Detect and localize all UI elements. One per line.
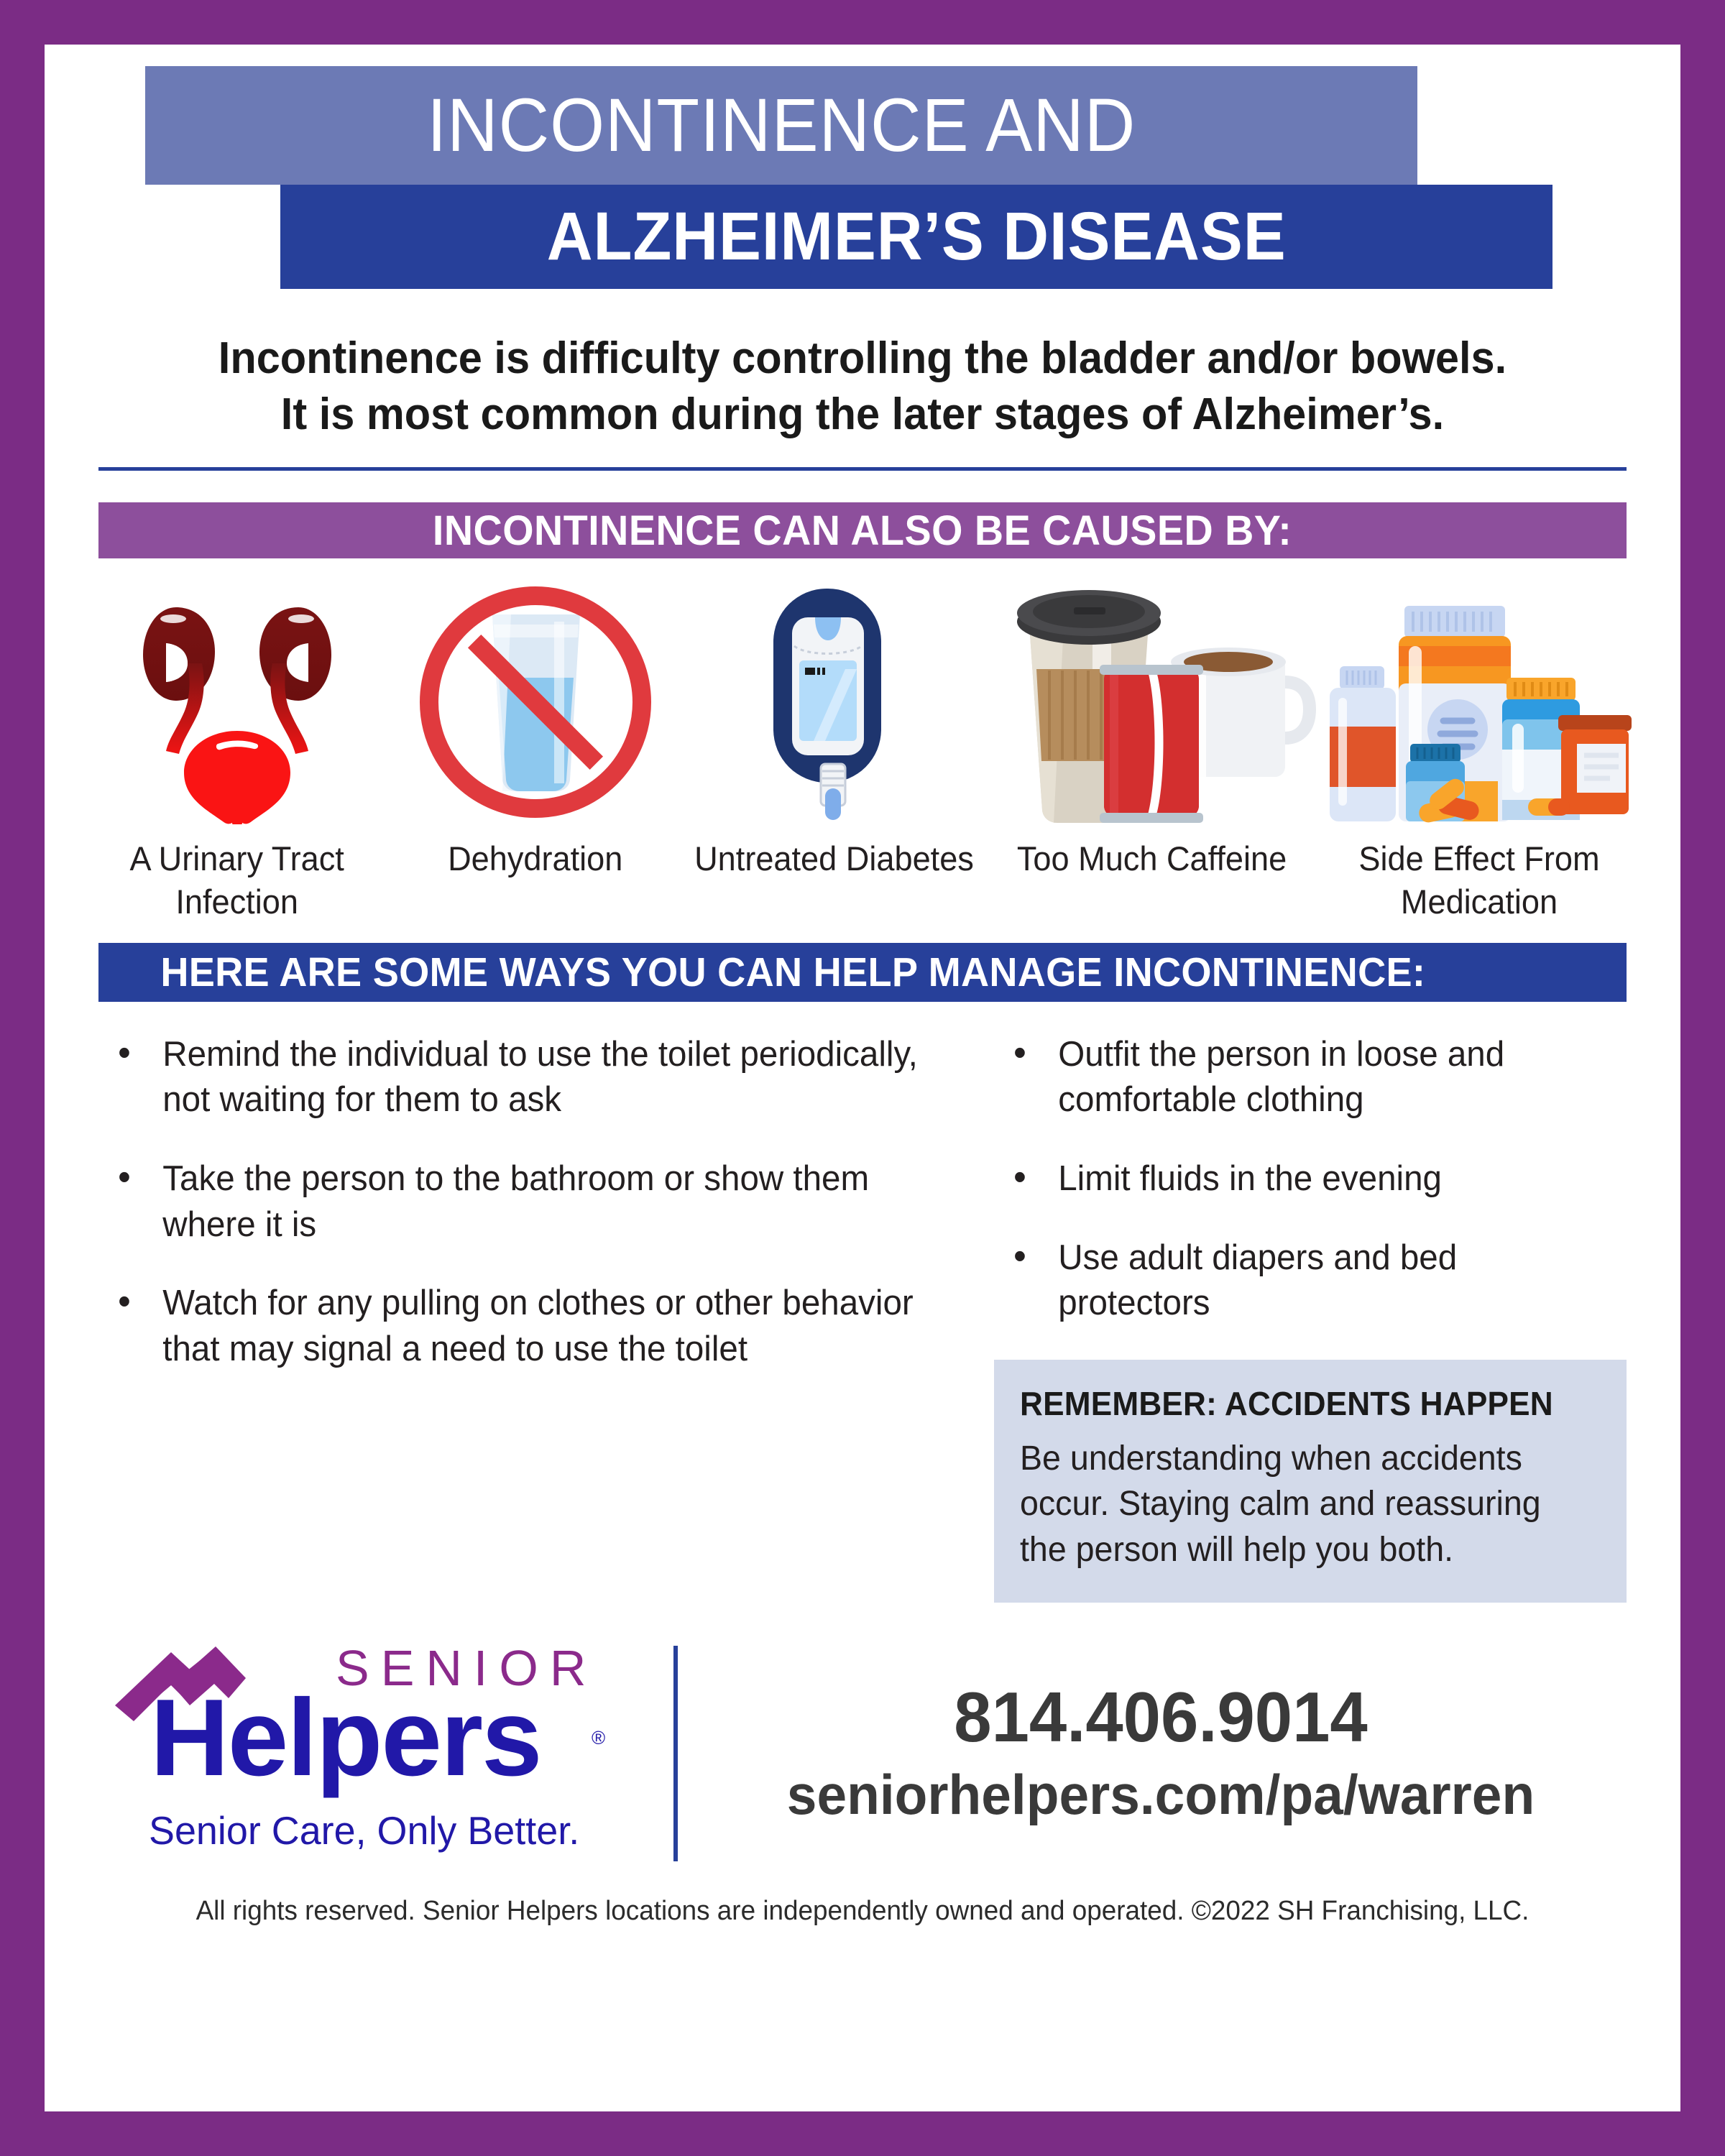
- list-item: Remind the individual to use the toilet …: [98, 1032, 947, 1123]
- list-item: Outfit the person in loose and comfortab…: [994, 1032, 1608, 1123]
- horizontal-rule: [98, 467, 1627, 471]
- cause-label: Dehydration: [448, 837, 622, 880]
- glucose-meter-icon: [685, 580, 983, 824]
- medication-bottles-icon: [1321, 580, 1637, 824]
- tips-column-right: Outfit the person in loose and comfortab…: [994, 1032, 1627, 1603]
- contact-block: 814.406.9014 seniorhelpers.com/pa/warren: [709, 1678, 1627, 1828]
- coffee-cup-soda-can-mug-icon: [983, 580, 1321, 824]
- title-line-1: INCONTINENCE AND: [427, 88, 1136, 163]
- causes-row: A Urinary Tract Infection: [88, 580, 1637, 923]
- poster-page: INCONTINENCE AND ALZHEIMER’S DISEASE Inc…: [45, 45, 1680, 2111]
- subtitle-line-2: It is most common during the later stage…: [153, 387, 1572, 443]
- tips-column-left: Remind the individual to use the toilet …: [98, 1032, 972, 1603]
- cause-label: Side Effect From Medication: [1328, 837, 1631, 923]
- phone-number[interactable]: 814.406.9014: [727, 1678, 1594, 1757]
- logo-helpers-text: Helpers: [150, 1675, 541, 1801]
- tips-list-right: Outfit the person in loose and comfortab…: [994, 1032, 1627, 1327]
- title-line-2: ALZHEIMER’S DISEASE: [547, 203, 1287, 271]
- list-item: Limit fluids in the evening: [994, 1156, 1608, 1202]
- registered-trademark-icon: ®: [592, 1727, 605, 1749]
- list-item: Watch for any pulling on clothes or othe…: [98, 1281, 947, 1372]
- remember-body: Be understanding when accidents occur. S…: [1020, 1436, 1583, 1572]
- website-url[interactable]: seniorhelpers.com/pa/warren: [727, 1761, 1594, 1829]
- cause-item: Side Effect From Medication: [1321, 580, 1637, 923]
- list-item: Take the person to the bathroom or show …: [98, 1156, 947, 1248]
- cause-item: Untreated Diabetes: [685, 580, 983, 880]
- causes-banner-label: INCONTINENCE CAN ALSO BE CAUSED BY:: [433, 507, 1292, 555]
- cause-label: A Urinary Tract Infection: [93, 837, 380, 923]
- tips-section: Remind the individual to use the toilet …: [98, 1032, 1627, 1603]
- tips-list-left: Remind the individual to use the toilet …: [98, 1032, 972, 1373]
- title-bar-secondary: ALZHEIMER’S DISEASE: [280, 185, 1552, 289]
- cause-label: Untreated Diabetes: [694, 837, 974, 880]
- vertical-divider: [673, 1646, 678, 1861]
- cause-item: A Urinary Tract Infection: [88, 580, 386, 923]
- kidneys-bladder-icon: [88, 580, 386, 824]
- causes-banner: INCONTINENCE CAN ALSO BE CAUSED BY:: [98, 502, 1627, 558]
- remember-heading: REMEMBER: ACCIDENTS HAPPEN: [1020, 1384, 1578, 1423]
- senior-helpers-logo: SENIOR Helpers ® Senior Care, Only Bette…: [98, 1635, 666, 1872]
- footer: SENIOR Helpers ® Senior Care, Only Bette…: [98, 1624, 1627, 1883]
- cause-label: Too Much Caffeine: [1017, 837, 1287, 880]
- cause-item: Dehydration: [386, 580, 684, 880]
- subtitle: Incontinence is difficulty controlling t…: [153, 331, 1572, 443]
- subtitle-line-1: Incontinence is difficulty controlling t…: [153, 331, 1572, 387]
- legal-disclaimer: All rights reserved. Senior Helpers loca…: [121, 1896, 1604, 1927]
- remember-callout: REMEMBER: ACCIDENTS HAPPEN Be understand…: [994, 1360, 1627, 1603]
- title-bar-primary: INCONTINENCE AND: [145, 66, 1417, 185]
- cause-item: Too Much Caffeine: [983, 580, 1321, 880]
- header: INCONTINENCE AND ALZHEIMER’S DISEASE: [45, 45, 1680, 303]
- logo-tagline: Senior Care, Only Better.: [149, 1807, 579, 1853]
- no-water-glass-icon: [386, 580, 684, 824]
- list-item: Use adult diapers and bed protectors: [994, 1235, 1608, 1327]
- tips-banner: HERE ARE SOME WAYS YOU CAN HELP MANAGE I…: [98, 943, 1627, 1002]
- tips-banner-label: HERE ARE SOME WAYS YOU CAN HELP MANAGE I…: [160, 949, 1425, 996]
